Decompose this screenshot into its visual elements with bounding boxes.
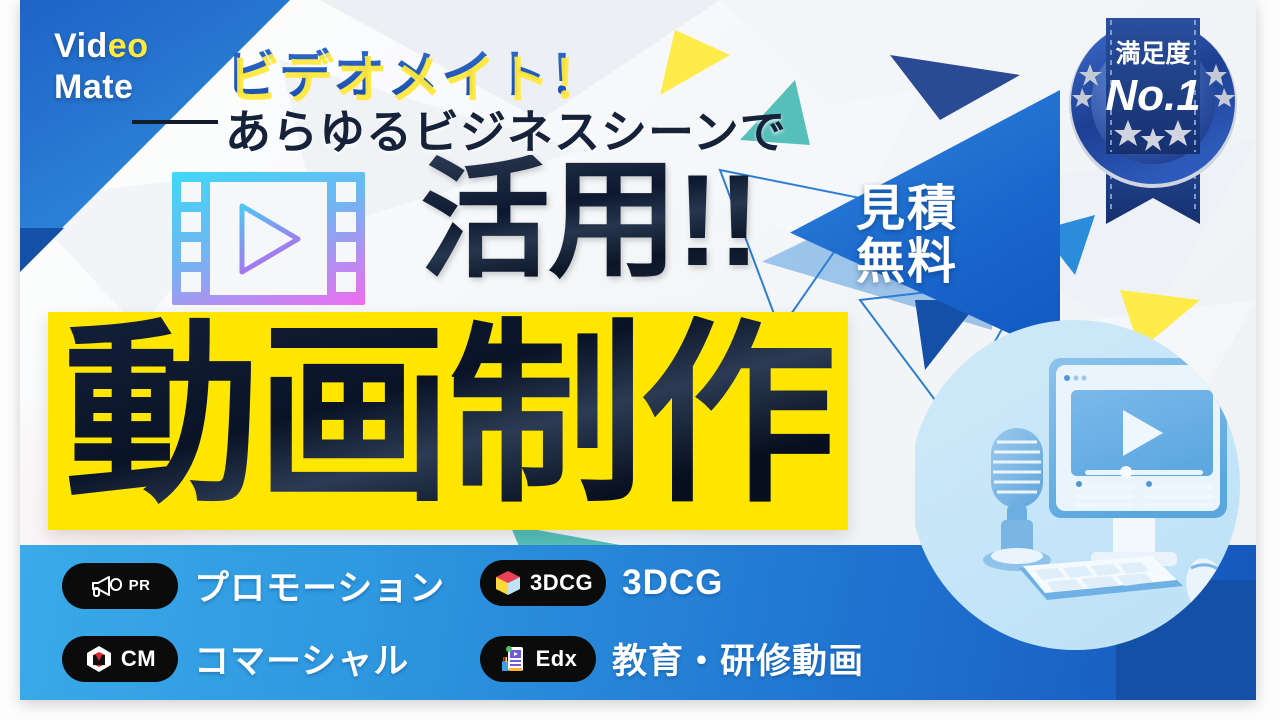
- tag-pill-3dcg: 3DCG: [480, 560, 606, 606]
- progress-track: [1085, 470, 1203, 475]
- banner-root: Video Mate ビデオメイト！ あらゆるビジネスシーンで: [0, 0, 1280, 720]
- tag-pill-label: 3DCG: [530, 570, 593, 596]
- cm-hex-icon: [84, 644, 114, 674]
- tag-pill-edx: Edx: [480, 636, 596, 682]
- rank-badge: 満足度 No.1: [1058, 6, 1248, 276]
- triangle-navy-top: [890, 55, 1020, 120]
- cube-icon: [493, 568, 523, 598]
- play-triangle-icon: [234, 201, 304, 277]
- badge-rank: No.1: [1105, 71, 1200, 120]
- tag-item-commercial[interactable]: CM コマーシャル: [62, 633, 409, 684]
- tag-pill-pr: PR: [62, 563, 178, 609]
- illustration-3d-workstation: [915, 300, 1256, 700]
- accent-word: 活用!!: [420, 155, 759, 285]
- divider-rule: [132, 120, 218, 124]
- tag-label-education: 教育・研修動画: [612, 633, 864, 684]
- tag-pill-label: Edx: [536, 646, 578, 672]
- tag-item-promotion[interactable]: PR プロモーション: [62, 560, 445, 611]
- progress-knob: [1120, 466, 1132, 478]
- corner-ribbon-tail: [20, 228, 64, 272]
- edu-doc-icon: [499, 644, 529, 674]
- tag-pill-cm: CM: [62, 636, 178, 682]
- tag-pill-label: CM: [121, 646, 156, 672]
- banner-card: Video Mate ビデオメイト！ あらゆるビジネスシーンで: [20, 0, 1256, 700]
- tag-label-promotion: プロモーション: [194, 560, 445, 611]
- quote-badge-line2: 無料: [856, 236, 958, 289]
- film-strip-icon: [172, 172, 365, 305]
- tag-label-commercial: コマーシャル: [194, 633, 409, 684]
- brand-logo-line2: Mate: [54, 67, 148, 108]
- main-title: 動画制作: [64, 316, 832, 516]
- brand-logo: Video Mate: [54, 26, 148, 109]
- quote-badge-line1: 見積: [856, 183, 958, 236]
- tag-pill-label: PR: [129, 577, 151, 594]
- tag-item-education[interactable]: Edx 教育・研修動画: [480, 633, 864, 684]
- triangle-yellow-top: [660, 30, 730, 95]
- badge-label: 満足度: [1115, 39, 1190, 68]
- microphone-head: [991, 428, 1043, 508]
- tag-item-3dcg[interactable]: 3DCG 3DCG: [480, 560, 723, 606]
- brand-logo-line1: Video: [54, 26, 148, 67]
- quote-badge-text: 見積 無料: [856, 183, 958, 289]
- megaphone-icon: [90, 573, 122, 599]
- tag-label-3dcg: 3DCG: [622, 563, 723, 603]
